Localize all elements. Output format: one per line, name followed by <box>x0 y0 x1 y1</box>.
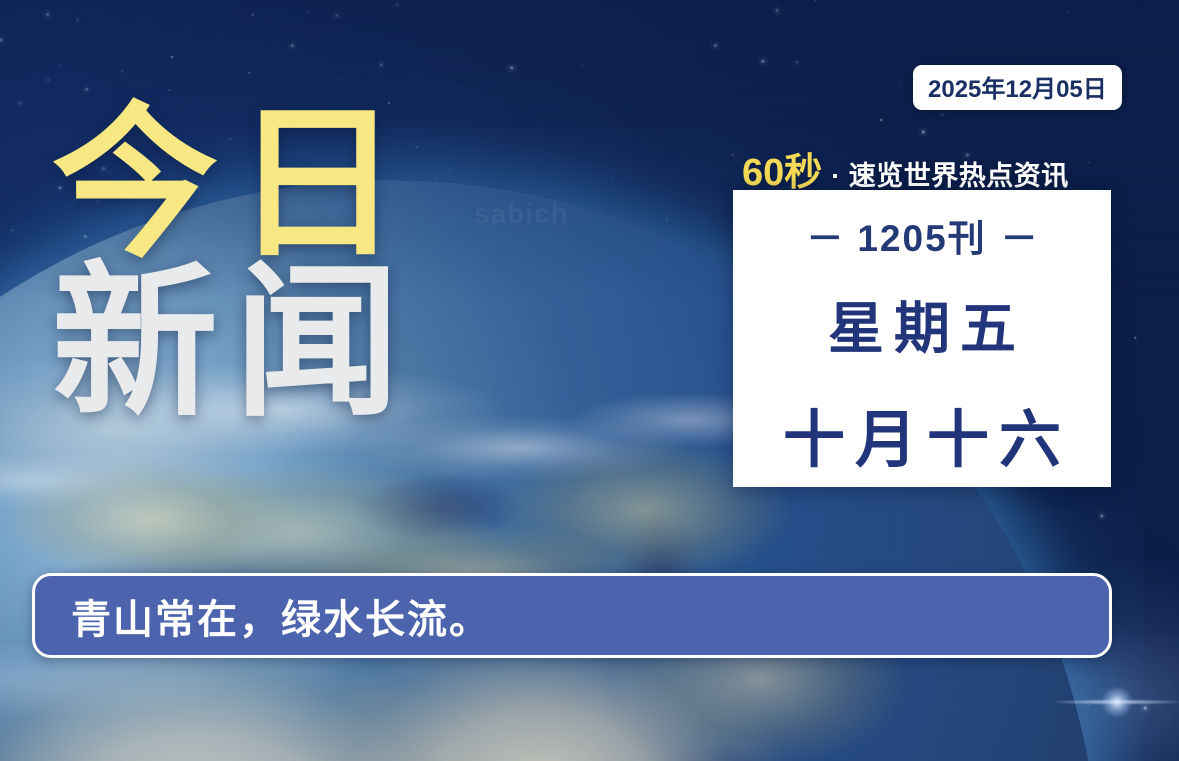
issue-number: 1205刊 <box>857 218 986 259</box>
tagline: 60秒 · 速览世界热点资讯 <box>742 141 1069 196</box>
issue-dash-left: － <box>792 218 857 259</box>
quote-text: 青山常在，绿水长流。 <box>71 587 491 645</box>
page-title: 今日 新闻 <box>52 104 472 425</box>
quote-bar: 青山常在，绿水长流。 <box>32 573 1112 658</box>
tagline-duration: 60秒 <box>742 141 822 196</box>
title-line-today: 今日 <box>52 104 472 267</box>
info-card: －1205刊－ 星期五 十月十六 <box>733 190 1111 487</box>
issue-dash-right: － <box>987 218 1052 259</box>
lunar-date-label: 十月十六 <box>773 389 1071 479</box>
date-badge: 2025年12月05日 <box>913 65 1122 110</box>
weekday-label: 星期五 <box>818 284 1026 365</box>
issue-number-row: －1205刊－ <box>792 208 1051 262</box>
news-poster: sabich 今日 新闻 2025年12月05日 60秒 · 速览世界热点资讯 … <box>0 0 1179 761</box>
tagline-description: · 速览世界热点资讯 <box>831 154 1069 193</box>
title-line-news: 新闻 <box>52 263 472 426</box>
watermark-text: sabich <box>474 198 569 230</box>
